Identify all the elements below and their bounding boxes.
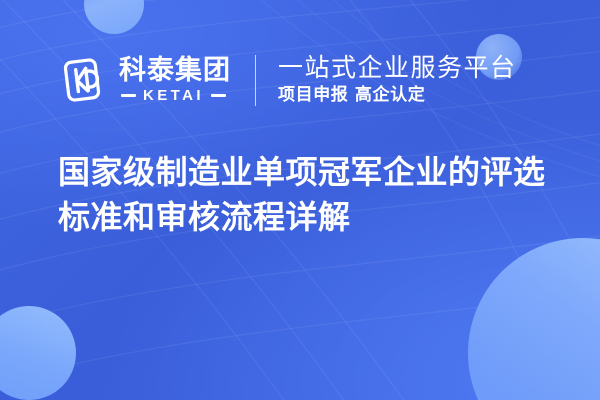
brand-name-en-row: KETAI xyxy=(119,88,231,103)
page-title: 国家级制造业单项冠军企业的评选标准和审核流程详解 xyxy=(58,150,563,241)
promo-banner: 科泰集团 KETAI 一站式企业服务平台 项目申报 高企认定 国家级制造业单项冠… xyxy=(0,0,600,400)
brand-logo[interactable]: 科泰集团 KETAI xyxy=(56,54,231,106)
dash-rule-left-icon xyxy=(121,94,136,97)
ketai-diamond-kd-monogram-icon xyxy=(56,54,108,106)
tagline-primary: 一站式企业服务平台 xyxy=(278,54,517,82)
vertical-divider-icon xyxy=(255,55,256,106)
tagline-block: 一站式企业服务平台 项目申报 高企认定 xyxy=(278,54,517,106)
brand-name-en: KETAI xyxy=(143,88,204,103)
dash-rule-right-icon xyxy=(211,94,226,97)
brand-name-cn: 科泰集团 xyxy=(119,57,231,85)
tagline-secondary: 项目申报 高企认定 xyxy=(278,86,517,106)
brand-wordmark: 科泰集团 KETAI xyxy=(119,57,231,103)
title-block: 国家级制造业单项冠军企业的评选标准和审核流程详解 xyxy=(58,150,563,241)
banner-header: 科泰集团 KETAI 一站式企业服务平台 项目申报 高企认定 xyxy=(0,44,600,116)
